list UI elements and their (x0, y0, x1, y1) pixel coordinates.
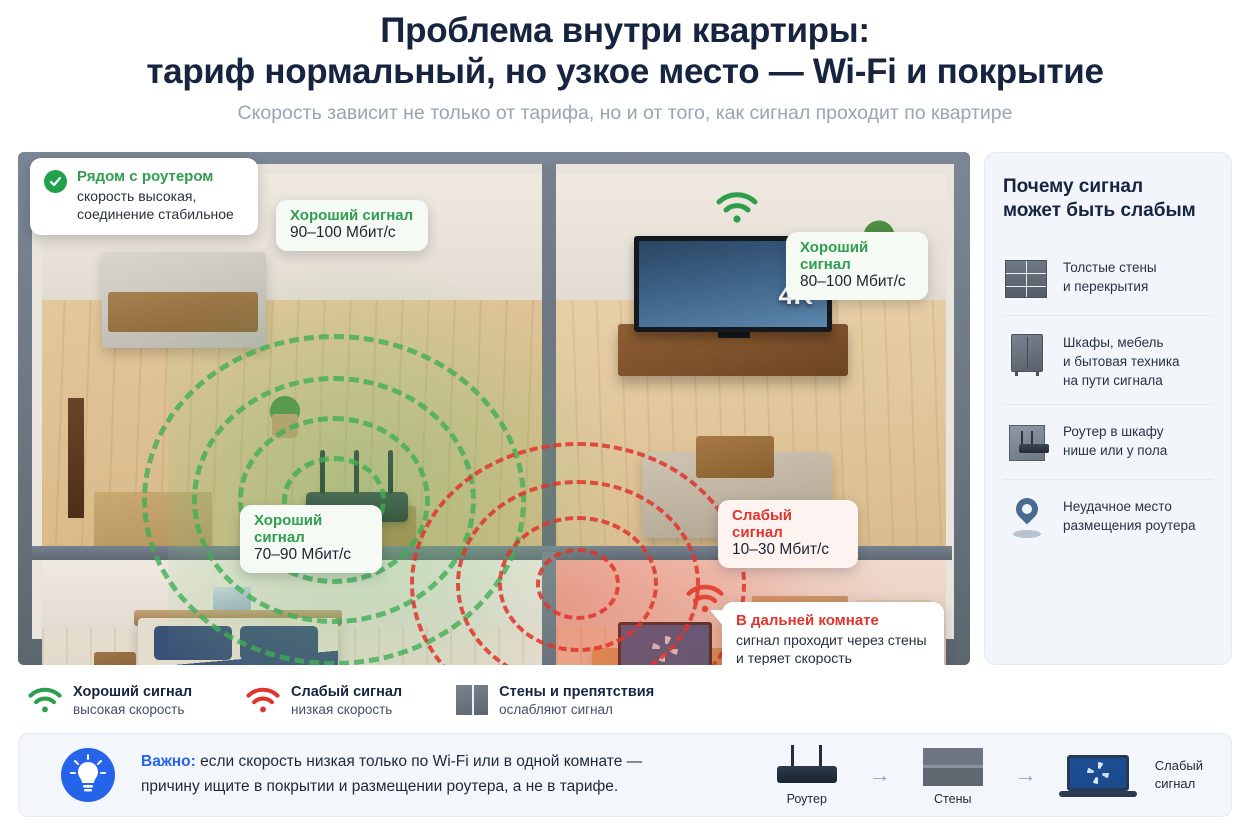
reason-line-1: Роутер в шкафу (1063, 422, 1167, 441)
loading-spinner-icon (652, 636, 678, 662)
reason-line-1: Шкафы, мебель (1063, 333, 1180, 352)
sidebar-title-line-2: может быть слабым (1003, 199, 1213, 223)
legend-title: Стены и препятствия (499, 684, 654, 700)
banner-message: Важно: если скорость низкая только по Wi… (141, 750, 642, 800)
laptop-loading-icon (618, 622, 712, 665)
sidebar-item-label: Толстые стены и перекрытия (1063, 255, 1157, 296)
legend-item-weak-signal: Слабый сигнал низкая скорость (246, 684, 402, 717)
router-antenna-right (388, 450, 393, 494)
flow-result-label: Слабый сигнал (1155, 757, 1203, 792)
router-antenna-center (354, 450, 359, 494)
wifi-green-icon (28, 687, 62, 714)
legend-title: Хороший сигнал (73, 684, 192, 700)
title-line-2: тариф нормальный, но узкое место — Wi-Fi… (0, 51, 1250, 92)
cabinet-icon (1003, 330, 1049, 376)
entry-door (68, 398, 84, 518)
flow-step-result: Слабый сигнал (1053, 753, 1203, 797)
pillow (154, 626, 232, 660)
banner-line-2: причину ищите в покрытии и размещении ро… (141, 775, 642, 800)
flow-step-label: Роутер (761, 792, 853, 806)
sidebar-item-bad-location[interactable]: Неудачное место размещения роутера (1003, 479, 1213, 554)
legend-item-walls: Стены и препятствия ослабляют сигнал (456, 684, 654, 717)
sidebar-item-router-placement-cabinet[interactable]: Роутер в шкафу нише или у пола (1003, 404, 1213, 479)
router-antenna-left (320, 450, 325, 494)
banner-line-1-rest: если скорость низкая только по Wi-Fi или… (196, 753, 642, 770)
legend-text: Хороший сигнал высокая скорость (73, 684, 192, 717)
router-icon (761, 745, 853, 789)
speed-chip-tv-room[interactable]: Хороший сигнал 80–100 Мбит/с (786, 232, 928, 300)
callout-title: В дальней комнате (736, 611, 930, 631)
title-line-1: Проблема внутри квартиры: (0, 10, 1250, 51)
reason-line-2: и перекрытия (1063, 277, 1157, 296)
laptop-loading-icon (1053, 753, 1143, 797)
pillow (240, 626, 318, 660)
signal-flow-diagram: Роутер → Стены → Слабый си (761, 745, 1203, 806)
chip-status: Хороший сигнал (290, 207, 414, 224)
sidebar-item-thick-walls[interactable]: Толстые стены и перекрытия (1003, 241, 1213, 315)
sidebar-reason-list: Толстые стены и перекрытия Шкафы, мебель… (1003, 241, 1213, 554)
flow-step-walls: Стены (907, 745, 999, 806)
callout-title: Рядом с роутером (77, 167, 244, 187)
chip-status: Хороший сигнал (254, 512, 368, 546)
callout-pointer (710, 610, 723, 626)
reason-line-3: на пути сигнала (1063, 371, 1180, 390)
reason-line-2: размещения роутера (1063, 516, 1196, 535)
map-pin-icon (1003, 494, 1049, 540)
chip-status: Хороший сигнал (800, 239, 914, 273)
reason-line-1: Толстые стены (1063, 258, 1157, 277)
wall-icon (907, 745, 999, 789)
page-header: Проблема внутри квартиры: тариф нормальн… (0, 0, 1250, 125)
callout-near-router[interactable]: Рядом с роутером скорость высокая, соеди… (30, 158, 258, 235)
sidebar-item-furniture[interactable]: Шкафы, мебель и бытовая техника на пути … (1003, 315, 1213, 404)
coffee-table (696, 436, 774, 478)
why-weak-signal-panel: Почему сигнал может быть слабым Толстые … (984, 152, 1232, 665)
sidebar-title-line-1: Почему сигнал (1003, 175, 1213, 199)
chip-status: Слабый сигнал (732, 507, 844, 541)
sidebar-title: Почему сигнал может быть слабым (1003, 175, 1213, 223)
check-circle-icon (44, 170, 67, 193)
important-note-banner: Важно: если скорость низкая только по Wi… (18, 733, 1232, 817)
room-living-tv: 4K (556, 174, 946, 546)
apartment-floorplan: 4K (18, 152, 970, 665)
callout-line-1: сигнал проходит через стены (736, 631, 930, 649)
wifi-green-icon (716, 192, 758, 224)
nightstand (94, 652, 136, 665)
lightbulb-icon (61, 748, 115, 802)
main-content: 4K (18, 152, 1232, 670)
legend-item-good-signal: Хороший сигнал высокая скорость (28, 684, 192, 717)
legend-subtitle: низкая скорость (291, 702, 402, 717)
plant-pot (272, 414, 298, 438)
legend-text: Слабый сигнал низкая скорость (291, 684, 402, 717)
page-title: Проблема внутри квартиры: тариф нормальн… (0, 10, 1250, 93)
reason-line-2: нише или у пола (1063, 441, 1167, 460)
infographic-page: Проблема внутри квартиры: тариф нормальн… (0, 0, 1250, 833)
chip-speed: 10–30 Мбит/с (732, 541, 844, 559)
legend-text: Стены и препятствия ослабляют сигнал (499, 684, 654, 717)
room-bedroom (42, 560, 542, 665)
speed-chip-office[interactable]: Слабый сигнал 10–30 Мбит/с (718, 500, 858, 568)
reason-line-1: Неудачное место (1063, 497, 1196, 516)
legend-subtitle: ослабляют сигнал (499, 702, 654, 717)
legend-row: Хороший сигнал высокая скорость Слабый с… (28, 672, 728, 728)
legend-subtitle: высокая скорость (73, 702, 192, 717)
wifi-red-icon (246, 687, 280, 714)
callout-line-1: скорость высокая, (77, 187, 244, 205)
brick-wall-icon (1003, 255, 1049, 301)
wood-counter (108, 292, 258, 332)
flow-step-label: Стены (907, 792, 999, 806)
callout-line-2: соединение стабильное (77, 205, 244, 223)
result-line-2: сигнал (1155, 775, 1203, 793)
page-subtitle: Скорость зависит не только от тарифа, но… (0, 102, 1250, 125)
speed-chip-bedroom[interactable]: Хороший сигнал 70–90 Мбит/с (240, 505, 382, 573)
chip-speed: 80–100 Мбит/с (800, 273, 914, 291)
interior-wall-vertical (542, 552, 556, 665)
chip-speed: 70–90 Мбит/с (254, 546, 368, 564)
speed-chip-router-room[interactable]: Хороший сигнал 90–100 Мбит/с (276, 200, 428, 251)
result-line-1: Слабый (1155, 757, 1203, 775)
flow-arrow-1: → (869, 762, 891, 788)
banner-lead: Важно: (141, 753, 196, 770)
callout-far-room[interactable]: В дальней комнате сигнал проходит через … (722, 602, 944, 665)
wall-icon (456, 685, 488, 715)
reason-line-2: и бытовая техника (1063, 352, 1180, 371)
sidebar-item-label: Шкафы, мебель и бытовая техника на пути … (1063, 330, 1180, 390)
callout-line-2: и теряет скорость (736, 649, 930, 665)
sidebar-item-label: Неудачное место размещения роутера (1063, 494, 1196, 535)
banner-line-1: Важно: если скорость низкая только по Wi… (141, 750, 642, 775)
flow-arrow-2: → (1015, 762, 1037, 788)
chip-speed: 90–100 Мбит/с (290, 224, 414, 242)
flow-step-router: Роутер (761, 745, 853, 806)
interior-wall-vertical (542, 164, 556, 560)
sidebar-item-label: Роутер в шкафу нише или у пола (1063, 419, 1167, 460)
legend-title: Слабый сигнал (291, 684, 402, 700)
floor-mat (94, 492, 212, 546)
router-in-cabinet-icon (1003, 419, 1049, 465)
